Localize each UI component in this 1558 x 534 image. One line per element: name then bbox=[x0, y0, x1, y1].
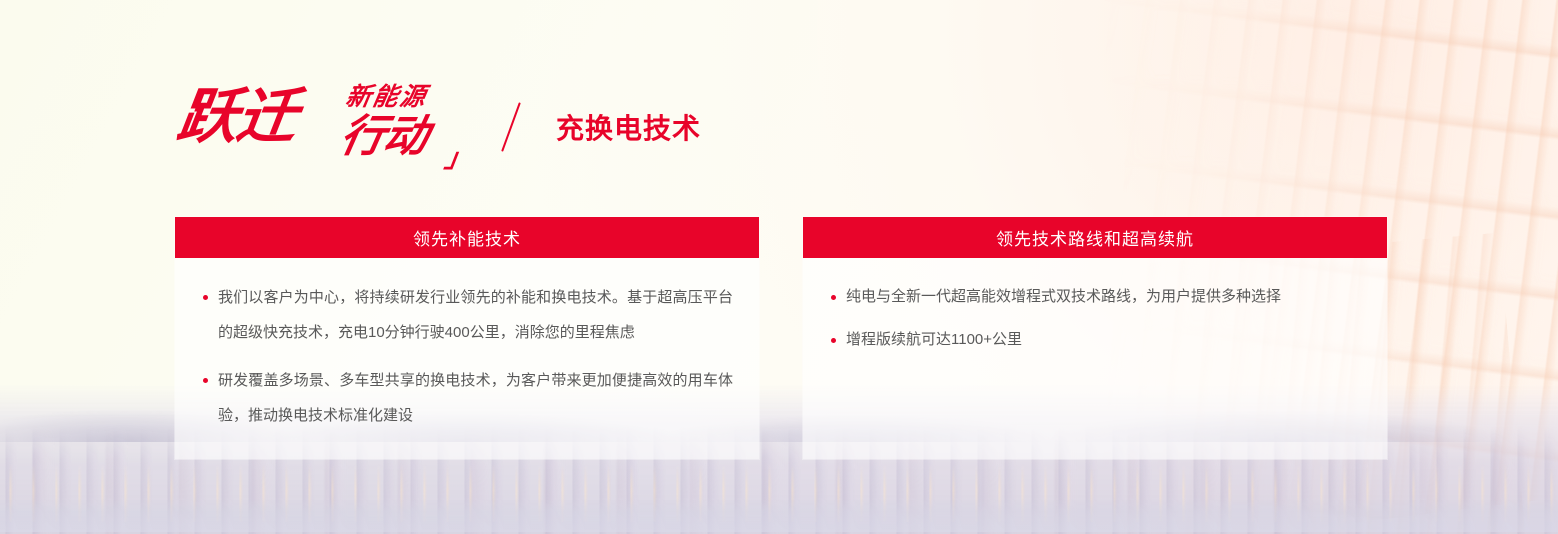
logo-subtitle-bottom-text: 行动 bbox=[337, 115, 432, 159]
card-title-left: 领先补能技术 bbox=[175, 217, 759, 258]
list-item: 纯电与全新一代超高能效增程式双技术路线，为用户提供多种选择 bbox=[829, 280, 1361, 314]
card-leading-tech-route-range: 领先技术路线和超高续航 纯电与全新一代超高能效增程式双技术路线，为用户提供多种选… bbox=[803, 217, 1387, 459]
list-item: 我们以客户为中心，将持续研发行业领先的补能和换电技术。基于超高压平台的超级快充技… bbox=[201, 280, 733, 350]
list-item: 增程版续航可达1100+公里 bbox=[829, 323, 1361, 357]
bullet-list-left: 我们以客户为中心，将持续研发行业领先的补能和换电技术。基于超高压平台的超级快充技… bbox=[201, 280, 733, 433]
brand-logo[interactable]: 「 跃迁 新能源 行动 「 bbox=[178, 84, 478, 170]
banner-header: 「 跃迁 新能源 行动 「 充换电技术 bbox=[178, 84, 701, 170]
logo-quote-close-icon: 「 bbox=[447, 139, 478, 176]
banner-stage: 「 跃迁 新能源 行动 「 充换电技术 领先补能技术 我们以客户为中心，将持续研… bbox=[0, 0, 1558, 534]
slash-divider-icon bbox=[501, 102, 521, 152]
bullet-list-right: 纯电与全新一代超高能效增程式双技术路线，为用户提供多种选择 增程版续航可达110… bbox=[829, 280, 1361, 357]
list-item: 研发覆盖多场景、多车型共享的换电技术，为客户带来更加便捷高效的用车体验，推动换电… bbox=[201, 363, 733, 433]
page-title: 充换电技术 bbox=[556, 107, 701, 147]
card-title-right: 领先技术路线和超高续航 bbox=[803, 217, 1387, 258]
logo-main-text: 跃迁 bbox=[174, 87, 300, 147]
logo-subtitle-top-text: 新能源 bbox=[344, 85, 429, 110]
card-container: 领先补能技术 我们以客户为中心，将持续研发行业领先的补能和换电技术。基于超高压平… bbox=[175, 217, 1387, 459]
card-body-right: 纯电与全新一代超高能效增程式双技术路线，为用户提供多种选择 增程版续航可达110… bbox=[803, 258, 1387, 420]
card-leading-recharge-technology: 领先补能技术 我们以客户为中心，将持续研发行业领先的补能和换电技术。基于超高压平… bbox=[175, 217, 759, 459]
card-body-left: 我们以客户为中心，将持续研发行业领先的补能和换电技术。基于超高压平台的超级快充技… bbox=[175, 258, 759, 459]
cityscape-river bbox=[0, 498, 1558, 532]
